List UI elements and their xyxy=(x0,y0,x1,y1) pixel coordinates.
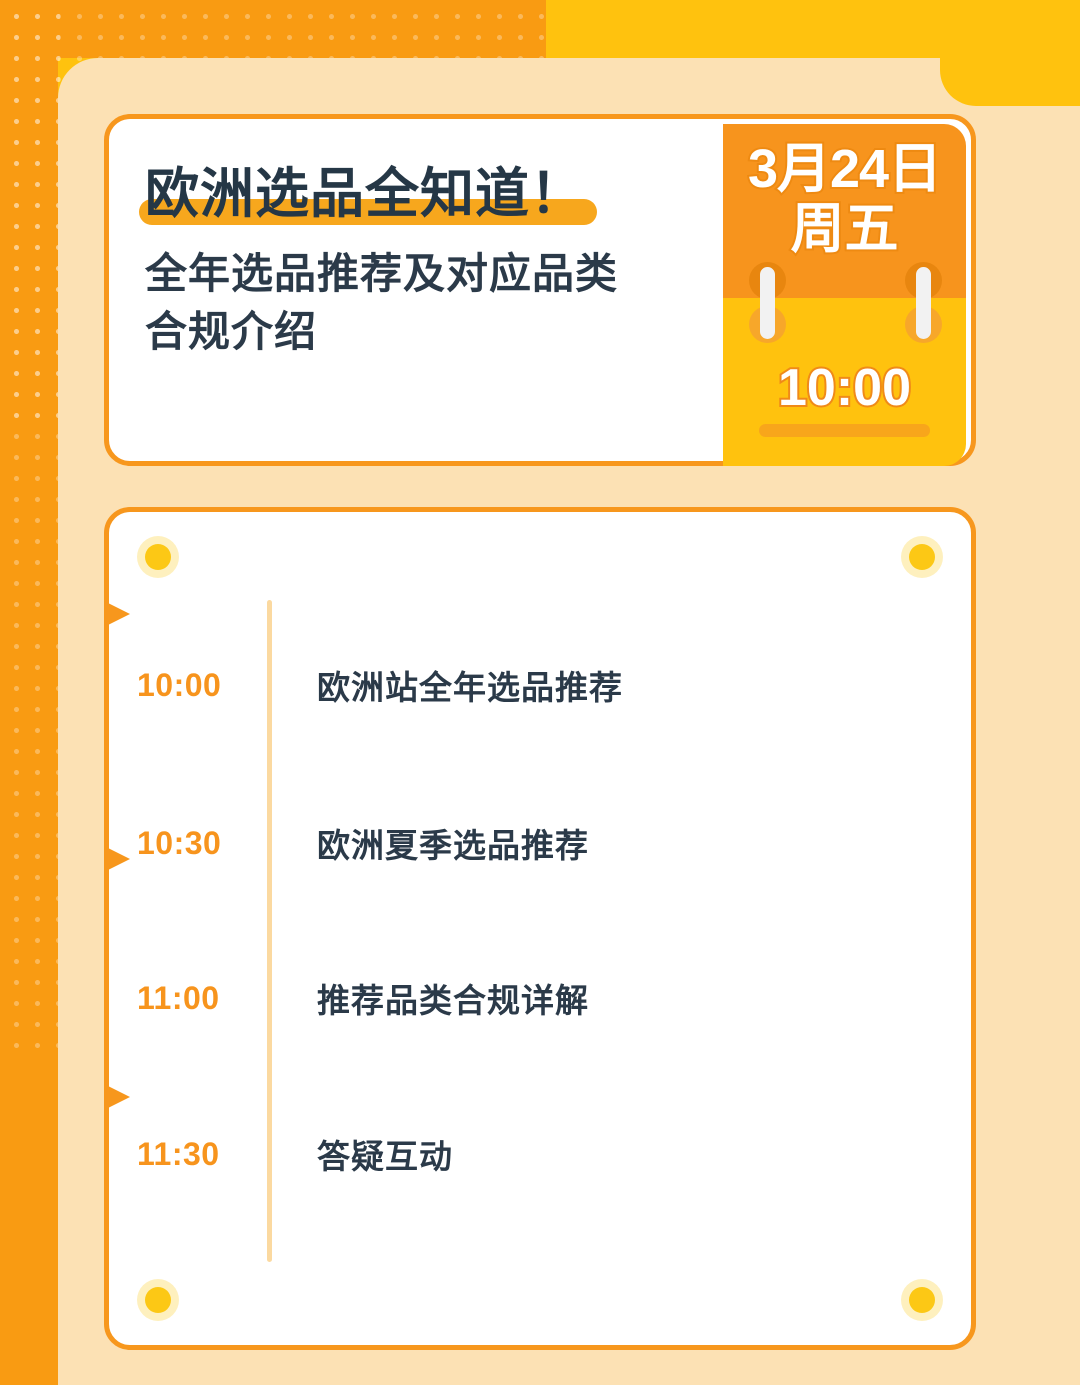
badge-underline-bar xyxy=(759,424,930,437)
timeline-marker-triangle-icon-2 xyxy=(104,846,130,872)
corner-dot-bottom-left-icon xyxy=(145,1287,171,1313)
schedule-row-4[interactable]: 11:30 答疑互动 xyxy=(137,1132,937,1176)
schedule-row-3[interactable]: 11:00 推荐品类合规详解 xyxy=(137,976,937,1020)
page-title: 欧洲选品全知道！ xyxy=(145,163,585,227)
badge-time-text: 10:00 xyxy=(723,358,966,418)
background-orange-left-strip xyxy=(0,0,58,1385)
timeline-marker-triangle-icon-3 xyxy=(104,1084,130,1110)
schedule-time-1: 10:00 xyxy=(137,667,267,704)
corner-dot-top-right-icon xyxy=(909,544,935,570)
schedule-row-2[interactable]: 10:30 欧洲夏季选品推荐 xyxy=(137,821,937,865)
corner-dot-bottom-right-icon xyxy=(909,1287,935,1313)
schedule-time-3: 11:00 xyxy=(137,980,267,1017)
main-title-wrapper: 欧洲选品全知道！ xyxy=(145,163,585,227)
header-card: 欧洲选品全知道！ 全年选品推荐及对应品类 合规介绍 3月24日 周五 xyxy=(104,114,976,466)
schedule-title-3: 推荐品类合规详解 xyxy=(317,974,589,1022)
schedule-title-1: 欧洲站全年选品推荐 xyxy=(317,661,623,709)
subtitle-line-1: 全年选品推荐及对应品类 xyxy=(145,245,745,303)
schedule-time-2: 10:30 xyxy=(137,825,267,862)
panel-corner-notch xyxy=(940,58,1080,106)
binder-ring-right-icon xyxy=(901,262,946,344)
header-text-block: 欧洲选品全知道！ 全年选品推荐及对应品类 合规介绍 xyxy=(145,163,745,361)
schedule-title-4: 答疑互动 xyxy=(317,1130,453,1178)
background-orange-top-strip xyxy=(0,0,546,58)
timeline-marker-triangle-icon-1 xyxy=(104,601,130,627)
poster-root: 欧洲选品全知道！ 全年选品推荐及对应品类 合规介绍 3月24日 周五 xyxy=(0,0,1080,1385)
date-badge: 3月24日 周五 10:00 xyxy=(723,124,966,466)
badge-date-text: 3月24日 xyxy=(723,140,966,198)
subtitle-block: 全年选品推荐及对应品类 合规介绍 xyxy=(145,245,745,361)
corner-dot-top-left-icon xyxy=(145,544,171,570)
schedule-time-4: 11:30 xyxy=(137,1136,267,1173)
ring-bar xyxy=(916,267,931,339)
schedule-title-2: 欧洲夏季选品推荐 xyxy=(317,819,589,867)
subtitle-line-2: 合规介绍 xyxy=(145,303,745,361)
badge-weekday-text: 周五 xyxy=(723,200,966,258)
schedule-row-1[interactable]: 10:00 欧洲站全年选品推荐 xyxy=(137,663,937,707)
schedule-card: 10:00 欧洲站全年选品推荐 10:30 欧洲夏季选品推荐 11:00 推荐品… xyxy=(104,507,976,1350)
ring-bar xyxy=(760,267,775,339)
binder-ring-left-icon xyxy=(745,262,790,344)
